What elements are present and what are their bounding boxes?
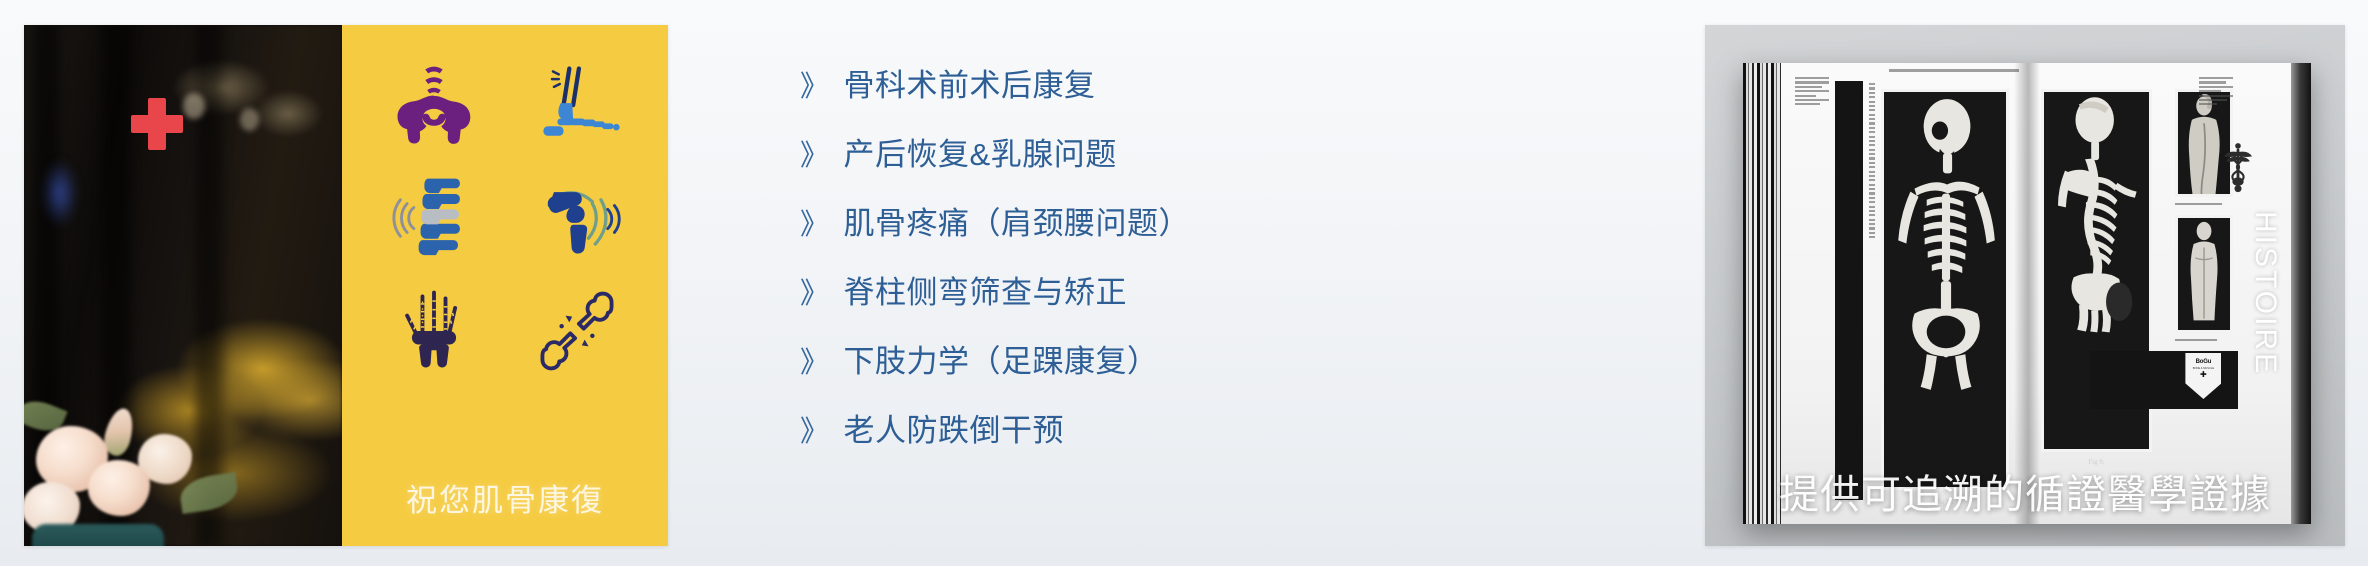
- badge-cross-icon: ✚: [2200, 372, 2207, 378]
- rehab-service-banner: 祝您肌骨康復 》 骨科术前术后康复 》 产后恢复&乳腺问题 》 肌骨疼痛（肩颈腰…: [0, 0, 2368, 566]
- book-overlay-caption: 提供可追溯的循證醫學證據: [1705, 462, 2345, 520]
- plate-caption-line: [2175, 203, 2223, 209]
- pelvis-icon: [380, 59, 488, 155]
- chevron-bullet-icon: 》: [800, 280, 830, 309]
- caduceus-medical-emblem: [2215, 141, 2261, 197]
- rose-bouquet: [24, 374, 264, 546]
- photo-bokeh-light: [183, 93, 205, 119]
- page-text-block: [1795, 77, 1829, 117]
- front-posture-photo-plate: [2175, 215, 2233, 333]
- flower-vase: [32, 524, 164, 546]
- list-item-label: 老人防跌倒干预: [844, 415, 1065, 446]
- knee-joint-pain-icon: [523, 171, 631, 267]
- chevron-bullet-icon: 》: [800, 418, 830, 447]
- rose: [88, 460, 150, 516]
- book-right-page: Fig 9.: [2027, 63, 2291, 524]
- chevron-bullet-icon: 》: [800, 73, 830, 102]
- red-cross-icon: [131, 98, 183, 150]
- clinic-photo: [24, 25, 342, 546]
- bone-fracture-icon: [523, 283, 631, 379]
- list-item[interactable]: 》 下肢力学（足踝康复）: [800, 346, 1420, 415]
- book-photo-card[interactable]: Fig 13.: [1705, 25, 2345, 546]
- skeleton-plate-front: [1881, 89, 2009, 490]
- service-list: 》 骨科术前术后康复 》 产后恢复&乳腺问题 》 肌骨疼痛（肩颈腰问题） 》 脊…: [800, 70, 1420, 484]
- list-item-label: 产后恢复&乳腺问题: [844, 139, 1117, 170]
- list-item[interactable]: 》 肌骨疼痛（肩颈腰问题）: [800, 208, 1420, 277]
- leaf: [178, 472, 240, 514]
- list-item-label: 骨科术前术后康复: [844, 70, 1096, 101]
- photo-blue-glow: [43, 160, 77, 226]
- chevron-bullet-icon: 》: [800, 211, 830, 240]
- page-margin-text: [1869, 83, 1875, 498]
- hand-skeleton-xray-icon: [380, 283, 488, 379]
- list-item[interactable]: 》 老人防跌倒干预: [800, 415, 1420, 484]
- book-cover-edge: [2291, 63, 2311, 524]
- book-page-edges: [1743, 63, 1781, 524]
- list-item[interactable]: 》 产后恢复&乳腺问题: [800, 139, 1420, 208]
- list-item-label: 肌骨疼痛（肩颈腰问题）: [844, 208, 1191, 239]
- page-side-text-block: [2199, 77, 2233, 119]
- list-item[interactable]: 》 脊柱侧弯筛查与矫正: [800, 277, 1420, 346]
- yellow-icon-panel: 祝您肌骨康復: [342, 25, 668, 546]
- book-left-page: Fig 13.: [1781, 63, 2027, 524]
- left-promo-card[interactable]: 祝您肌骨康復: [24, 25, 668, 546]
- badge-brand-name: BoGu: [2196, 359, 2212, 365]
- black-sidebar-block: [1835, 81, 1863, 500]
- ankle-foot-bones-icon: [523, 59, 631, 155]
- list-item-label: 脊柱侧弯筛查与矫正: [844, 277, 1128, 308]
- open-anatomy-book: Fig 13.: [1743, 63, 2311, 524]
- list-item[interactable]: 》 骨科术前术后康复: [800, 70, 1420, 139]
- body-part-icon-grid: [342, 51, 668, 387]
- list-item-label: 下肢力学（足踝康复）: [844, 346, 1159, 377]
- book-gutter-shadow: [2014, 63, 2040, 524]
- chevron-bullet-icon: 》: [800, 142, 830, 171]
- yellow-panel-caption: 祝您肌骨康復: [342, 475, 668, 520]
- page-header-line: [1889, 69, 2019, 77]
- chevron-bullet-icon: 》: [800, 349, 830, 378]
- plate-caption-line: [2175, 339, 2217, 345]
- spine-vertebrae-pain-icon: [380, 171, 488, 267]
